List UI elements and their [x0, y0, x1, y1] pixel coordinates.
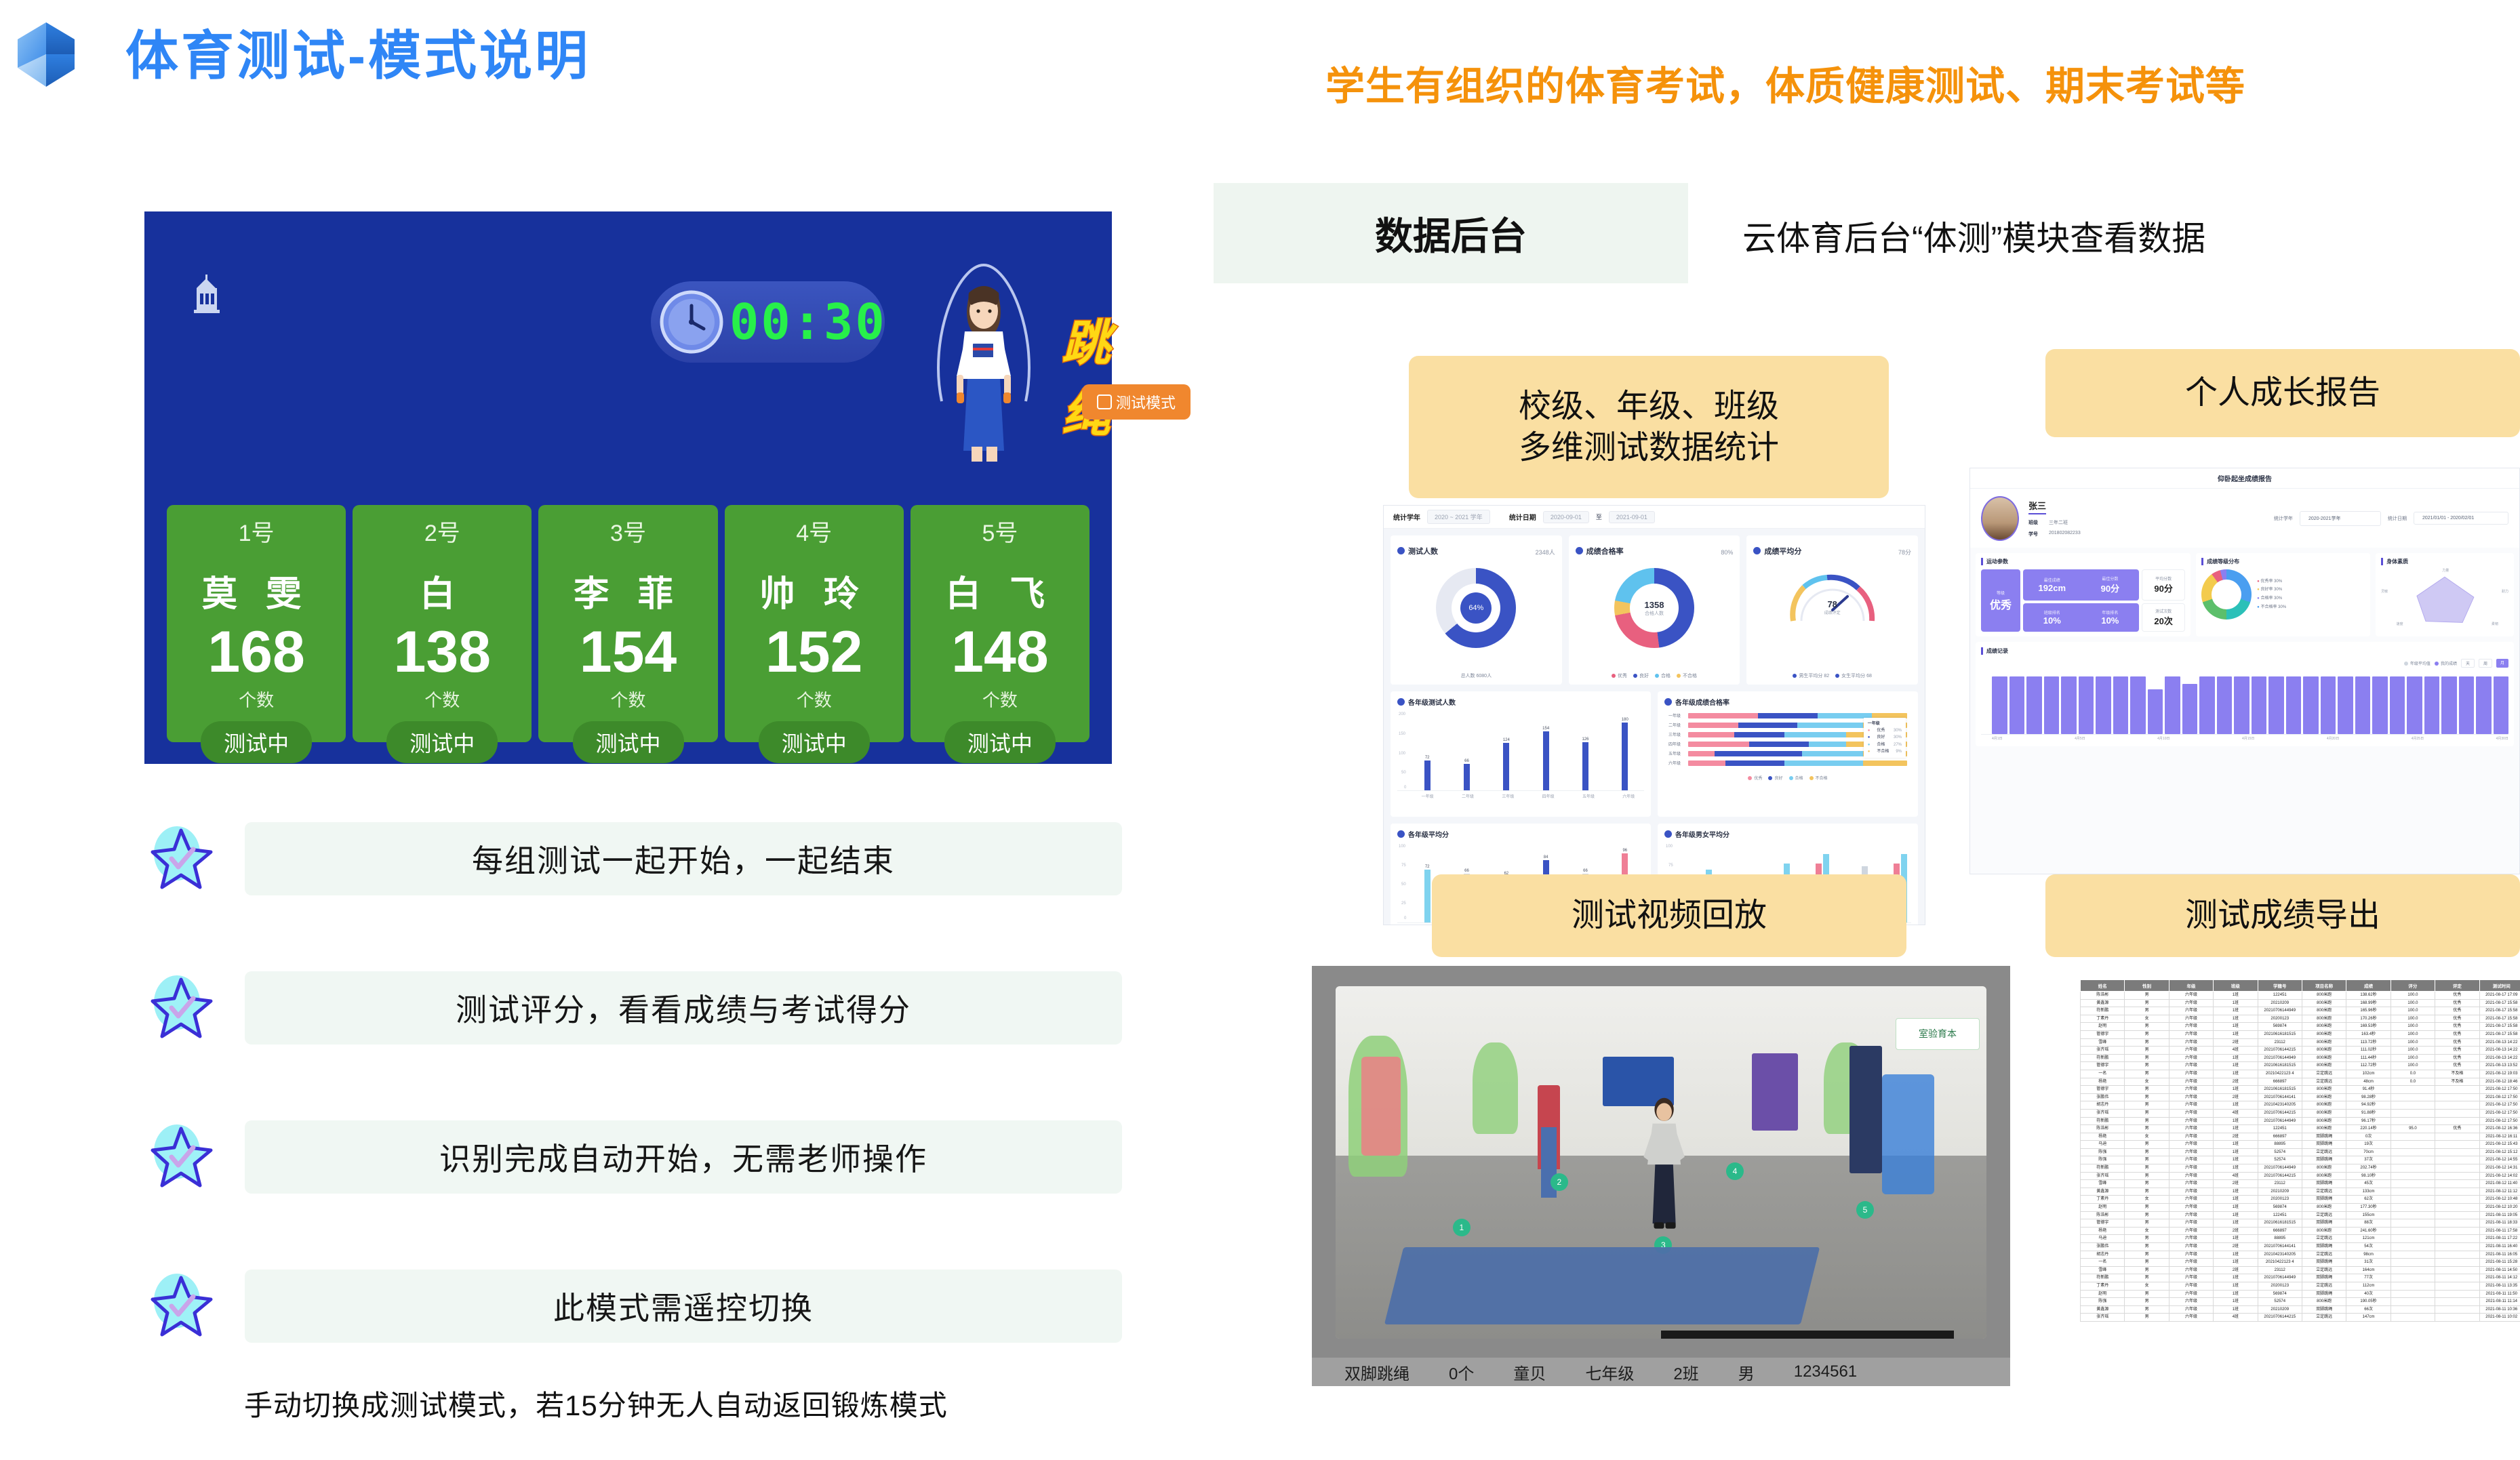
- student-card[interactable]: 5号 白 飞 148 个数 测试中: [911, 505, 1089, 742]
- legend-label: 合格: [1795, 775, 1803, 781]
- table-row[interactable]: 张齐瑶男六年级4班20210706144215800米跑111.02秒100.0…: [2081, 1047, 2520, 1055]
- export-table-screenshot: 姓名性别年级班级学籍号项目名称成绩评分评定测试时间 陈浩彬男六年级1班12245…: [2080, 979, 2520, 1386]
- table-cell: 陈强: [2081, 1148, 2125, 1156]
- table-row[interactable]: 杨艳女六年级2班666897立定跳远48cm0.0不及格2021-08-12 1…: [2081, 1078, 2520, 1086]
- table-cell: 2021-08-12 11:40: [2479, 1180, 2520, 1188]
- kpi-footer: 总人数 6080人: [1461, 672, 1492, 679]
- table-cell: 双脚跳绳: [2302, 1290, 2346, 1298]
- table-cell: 2021-08-11 15:28: [2479, 1259, 2520, 1267]
- table-row[interactable]: 陈强男六年级1班52574800米跑190.05秒2021-08-11 11:1…: [2081, 1298, 2520, 1306]
- radar-axis-label: 耐力: [2502, 589, 2508, 594]
- student-status: 测试中: [386, 721, 498, 763]
- video-frame[interactable]: 室验育本 1 2 3 4 5: [1336, 986, 1986, 1339]
- table-cell: [2435, 1117, 2479, 1125]
- table-row[interactable]: 张鹏伟男六年级2班20210706144141800米跑98.28秒2021-0…: [2081, 1093, 2520, 1101]
- table-cell: 20210706144215: [2258, 1047, 2302, 1055]
- table-cell: 2班: [2214, 1266, 2258, 1274]
- table-cell: [2391, 1314, 2435, 1322]
- table-row[interactable]: 符新鹏男六年级1班20210706144949800米跑111.44秒100.0…: [2081, 1054, 2520, 1062]
- table-row[interactable]: 胡志丹男六年级1班20210423140205800米跑94.92秒2021-0…: [2081, 1101, 2520, 1110]
- table-column-header: 姓名: [2081, 980, 2125, 992]
- table-cell: [2435, 1093, 2479, 1101]
- table-cell: 800米跑: [2302, 1015, 2346, 1023]
- table-cell: 1班: [2214, 1274, 2258, 1282]
- table-cell: 800米跑: [2302, 1125, 2346, 1133]
- feature-label: 测试评分，看看成绩与考试得分: [245, 971, 1122, 1045]
- table-cell: 52574: [2258, 1156, 2302, 1164]
- table-row[interactable]: 张齐瑶男六年级4班20210706144215立定跳远147cm2021-08-…: [2081, 1314, 2520, 1322]
- range-button-month[interactable]: 月: [2496, 659, 2508, 668]
- timer-value: 00:30: [729, 293, 887, 350]
- star-check-icon: [146, 1120, 219, 1194]
- wall-screen: [1752, 1053, 1797, 1131]
- dashboard-screenshot: 统计学年 2020 ~ 2021 学年 统计日期 2020-09-01 至 20…: [1383, 505, 1925, 925]
- table-cell: 六年级: [2169, 1266, 2213, 1274]
- table-cell: [2391, 1141, 2435, 1149]
- table-row[interactable]: 张鹏伟男六年级2班20210706144141双脚跳绳54次2021-08-11…: [2081, 1243, 2520, 1251]
- table-cell: 符新鹏: [2081, 1164, 2125, 1173]
- table-cell: 2021-08-11 19:05: [2479, 1211, 2520, 1219]
- x-tick: 4月20日: [2327, 736, 2339, 741]
- table-cell: 1班: [2214, 992, 2258, 1000]
- student-card[interactable]: 3号 李 菲 154 个数 测试中: [538, 505, 717, 742]
- table-cell: 23112: [2258, 1266, 2302, 1274]
- table-cell: 4班: [2214, 1314, 2258, 1322]
- table-row[interactable]: 陈强男六年级1班52574立定跳远70cm2021-08-12 15:12: [2081, 1148, 2520, 1156]
- table-cell: 138.62秒: [2346, 992, 2391, 1000]
- table-cell: [2435, 1259, 2479, 1267]
- gauge-label: 成绩评定: [1785, 609, 1880, 615]
- table-cell: 0次: [2346, 1133, 2391, 1141]
- range-button-day[interactable]: 天: [2461, 659, 2475, 668]
- table-cell: 男: [2125, 1259, 2169, 1267]
- bar-category: 一年级: [1412, 793, 1443, 799]
- date-to-input[interactable]: 2021-09-01: [1609, 511, 1655, 523]
- panel-title: 各年级男女平均分: [1675, 829, 1729, 839]
- tooltip-label: 合格: [1877, 742, 1885, 748]
- table-cell: 800米跑: [2302, 1093, 2346, 1101]
- table-cell: 胡志丹: [2081, 1101, 2125, 1110]
- section-title: 运动参数: [1981, 558, 2185, 565]
- table-row[interactable]: 黄鑫源男六年级1班20210209双脚跳绳66次2021-08-11 10:36: [2081, 1305, 2520, 1314]
- table-cell: 1班: [2214, 1148, 2258, 1156]
- export-table: 姓名性别年级班级学籍号项目名称成绩评分评定测试时间 陈浩彬男六年级1班12245…: [2080, 979, 2520, 1322]
- rank-tile: 班级排名10% 年级排名10%: [2023, 603, 2139, 632]
- tooltip-label: 良好: [1877, 734, 1885, 741]
- tooltip-value: 30%: [1894, 727, 1902, 734]
- kpi-card-test-count: 测试人数 2348人 64% 总人数 6080人: [1391, 535, 1562, 685]
- table-row[interactable]: 陈强男六年级1班52574双脚跳绳37次2021-08-12 14:55: [2081, 1156, 2520, 1164]
- table-cell: 2021-08-11 16:40: [2479, 1243, 2520, 1251]
- table-row[interactable]: 杨艳女六年级2班666897800米跑241.60秒2021-08-11 17:…: [2081, 1227, 2520, 1235]
- table-cell: 2021-08-12 16:36: [2479, 1125, 2520, 1133]
- table-row[interactable]: 符新鹏男六年级1班20210706144949800米跑202.74秒2021-…: [2081, 1164, 2520, 1173]
- student-name: 白: [420, 565, 464, 616]
- table-column-header: 测试时间: [2479, 980, 2520, 992]
- table-cell: 六年级: [2169, 1023, 2213, 1031]
- report-student-header: 张三 班级三年二班 学号201802082233 统计学年 2020-2021学…: [1970, 488, 2519, 548]
- donut-center-value: 1358: [1645, 600, 1664, 610]
- shield-check-icon: [1664, 698, 1672, 706]
- table-cell: 133cm: [2346, 1188, 2391, 1196]
- table-cell: 2021-08-12 17:50: [2479, 1101, 2520, 1110]
- feature-label: 此模式需遥控切换: [245, 1270, 1122, 1343]
- table-cell: 男: [2125, 1117, 2169, 1125]
- table-cell: 20210706144141: [2258, 1093, 2302, 1101]
- table-row[interactable]: 赵明男六年级1班569874双脚跳绳40次2021-08-11 11:50: [2081, 1290, 2520, 1298]
- tag-multi-level-stats: 校级、年级、班级 多维测试数据统计: [1409, 356, 1889, 498]
- table-row[interactable]: 赵明男六年级1班569874800米跑177.30秒2021-08-12 10:…: [2081, 1204, 2520, 1212]
- table-row[interactable]: 丁素丹女六年级1班20200123双脚跳绳62次2021-08-12 10:48: [2081, 1196, 2520, 1204]
- student-count: 138: [394, 623, 492, 681]
- table-cell: 2021-08-12 14:02: [2479, 1172, 2520, 1180]
- table-cell: 98.28秒: [2346, 1093, 2391, 1101]
- bar-value: 124: [1503, 738, 1510, 742]
- table-cell: 20210616181515: [2258, 1086, 2302, 1094]
- hbar-category: 三年级: [1668, 731, 1685, 737]
- table-row[interactable]: 丁素丹女六年级1班20200123立定跳远112cm2021-08-11 13:…: [2081, 1282, 2520, 1290]
- table-cell: 双脚跳绳: [2302, 1219, 2346, 1228]
- table-cell: 1班: [2214, 1290, 2258, 1298]
- table-cell: 122451: [2258, 992, 2302, 1000]
- table-cell: 男: [2125, 1054, 2169, 1062]
- table-row[interactable]: 马迪男六年级1班88895立定跳远121cm2021-08-11 17:22: [2081, 1235, 2520, 1243]
- table-cell: 六年级: [2169, 1125, 2213, 1133]
- medal-icon: [1397, 830, 1405, 838]
- table-cell: 100.0: [2391, 992, 2435, 1000]
- table-cell: 2班: [2214, 1180, 2258, 1188]
- table-cell: 六年级: [2169, 1290, 2213, 1298]
- table-cell: 六年级: [2169, 1109, 2213, 1117]
- table-cell: 31次: [2346, 1259, 2391, 1267]
- table-cell: 800米跑: [2302, 1086, 2346, 1094]
- table-cell: 黄鑫源: [2081, 999, 2125, 1007]
- table-cell: 六年级: [2169, 1133, 2213, 1141]
- legend-value: 30%: [2274, 588, 2282, 592]
- tag-line-2: 多维测试数据统计: [1519, 427, 1779, 468]
- table-cell: 2021-08-12 11:12: [2479, 1188, 2520, 1196]
- legend-label: 不合格: [1683, 672, 1697, 679]
- legend-label: 优秀: [1754, 775, 1762, 781]
- table-cell: [2435, 1235, 2479, 1243]
- table-cell: 男: [2125, 1062, 2169, 1070]
- table-row[interactable]: 雪峰男六年级2班23112双脚跳绳45次2021-08-12 11:40: [2081, 1180, 2520, 1188]
- table-cell: 男: [2125, 1235, 2169, 1243]
- caption-class: 2班: [1673, 1360, 1698, 1384]
- date-separator: 至: [1596, 512, 1602, 521]
- avg-score-label: 平均分数: [2155, 575, 2172, 582]
- table-cell: 1班: [2214, 1054, 2258, 1062]
- kpi-unit: 分: [1905, 549, 1911, 556]
- table-row[interactable]: 管德宇男六年级1班20210616181515双脚跳绳88次2021-08-11…: [2081, 1219, 2520, 1228]
- hbar-category: 二年级: [1668, 722, 1685, 728]
- table-cell: [2435, 1101, 2479, 1110]
- table-cell: 女: [2125, 1196, 2169, 1204]
- table-cell: 优秀: [2435, 1023, 2479, 1031]
- legend-label: 优秀率: [2260, 580, 2273, 584]
- table-cell: 52574: [2258, 1148, 2302, 1156]
- legend-label: 年级平均值: [2410, 660, 2431, 666]
- table-cell: 164cm: [2346, 1266, 2391, 1274]
- people-icon: [1397, 698, 1405, 706]
- table-cell: 女: [2125, 1227, 2169, 1235]
- table-cell: 569874: [2258, 1204, 2302, 1212]
- table-cell: 1班: [2214, 1235, 2258, 1243]
- table-cell: 20210706144141: [2258, 1243, 2302, 1251]
- table-cell: 六年级: [2169, 1204, 2213, 1212]
- table-row[interactable]: 张齐瑶男六年级4班20210706144215800米跑91.88秒2021-0…: [2081, 1109, 2520, 1117]
- table-cell: 165.96秒: [2346, 1007, 2391, 1015]
- table-row[interactable]: 陈浩彬男六年级1班122451立定跳远155cm2021-08-11 19:05: [2081, 1211, 2520, 1219]
- table-cell: 男: [2125, 1251, 2169, 1259]
- kpi-footer-female: 女生平均分 68: [1841, 672, 1872, 679]
- table-cell: [2391, 1251, 2435, 1259]
- table-cell: 符新鹏: [2081, 1274, 2125, 1282]
- table-cell: 20210706144949: [2258, 1164, 2302, 1173]
- table-cell: [2435, 1188, 2479, 1196]
- table-row[interactable]: 胡志丹男六年级1班20210423140205立定跳远98cm2021-08-1…: [2081, 1251, 2520, 1259]
- table-cell: 2021-08-12 15:43: [2479, 1141, 2520, 1149]
- donut-center-value: 64%: [1460, 592, 1492, 624]
- table-cell: 张鹏伟: [2081, 1093, 2125, 1101]
- student-card[interactable]: 2号 白 138 个数 测试中: [353, 505, 532, 742]
- table-cell: 男: [2125, 1204, 2169, 1212]
- table-cell: 六年级: [2169, 1164, 2213, 1173]
- date-from-input[interactable]: 2020-09-01: [1543, 511, 1589, 523]
- grade-tile: 等级 优秀: [1981, 569, 2020, 632]
- table-cell: 女: [2125, 1282, 2169, 1290]
- table-row[interactable]: 管德宇男六年级1班20210616181515800米跑112.72秒100.0…: [2081, 1062, 2520, 1070]
- table-cell: 102cm: [2346, 1070, 2391, 1078]
- table-cell: 双脚跳绳: [2302, 1196, 2346, 1204]
- donut-chart: 64%: [1436, 568, 1516, 648]
- student-name: 李 菲: [574, 565, 682, 616]
- table-cell: 丁素丹: [2081, 1282, 2125, 1290]
- gauge-value: 78: [1827, 599, 1837, 609]
- table-column-header: 性别: [2125, 980, 2169, 992]
- table-cell: 2021-08-12 14:31: [2479, 1164, 2520, 1173]
- table-cell: 六年级: [2169, 1259, 2213, 1267]
- x-tick: 4月30日: [2496, 736, 2508, 741]
- table-cell: 23112: [2258, 1180, 2302, 1188]
- table-row[interactable]: 管德宇男六年级1班20210616181515800米跑91.4秒2021-08…: [2081, 1086, 2520, 1094]
- year-filter-select[interactable]: 2020 ~ 2021 学年: [1427, 510, 1490, 524]
- section-title: 身体素质: [2381, 558, 2508, 565]
- table-cell: 胡志丹: [2081, 1251, 2125, 1259]
- table-row[interactable]: 陈浩彬男六年级1班122451800米跑138.62秒100.0优秀2021-0…: [2081, 992, 2520, 1000]
- table-cell: 1班: [2214, 1305, 2258, 1314]
- table-cell: 六年级: [2169, 1148, 2213, 1156]
- student-count: 168: [207, 623, 305, 681]
- table-cell: 800米跑: [2302, 1062, 2346, 1070]
- video-progress-bar[interactable]: [1661, 1331, 1954, 1339]
- table-cell: 1班: [2214, 1298, 2258, 1306]
- student-count: 154: [580, 623, 677, 681]
- table-row[interactable]: 马迪男六年级1班88895双脚跳绳19次2021-08-12 15:43: [2081, 1141, 2520, 1149]
- table-cell: 20210422123 4: [2258, 1259, 2302, 1267]
- table-cell: 190.05秒: [2346, 1298, 2391, 1306]
- table-cell: 杨艳: [2081, 1133, 2125, 1141]
- table-row[interactable]: 符新鹏男六年级1班20210706144949800米跑96.17秒2021-0…: [2081, 1117, 2520, 1125]
- table-cell: 张齐瑶: [2081, 1109, 2125, 1117]
- table-row[interactable]: 赵明男六年级1班569874800米跑169.53秒100.0优秀2021-08…: [2081, 1023, 2520, 1031]
- table-cell: 1班: [2214, 1251, 2258, 1259]
- caption-gender: 男: [1738, 1360, 1755, 1384]
- table-cell: 1班: [2214, 1164, 2258, 1173]
- student-status: 测试中: [944, 721, 1056, 763]
- table-cell: 优秀: [2435, 992, 2479, 1000]
- feature-label: 每组测试一起开始，一起结束: [245, 822, 1122, 895]
- tag-growth-report: 个人成长报告: [2045, 349, 2520, 437]
- count-unit: 个数: [239, 687, 274, 712]
- hbar-category: 四年级: [1668, 741, 1685, 747]
- table-cell: 男: [2125, 1125, 2169, 1133]
- table-cell: 1班: [2214, 1204, 2258, 1212]
- table-cell: 20200123: [2258, 1196, 2302, 1204]
- table-cell: [2435, 1282, 2479, 1290]
- grade-value: 优秀: [1990, 596, 2012, 612]
- table-cell: 2021-08-13 14:22: [2479, 1054, 2520, 1062]
- table-cell: 优秀: [2435, 1062, 2479, 1070]
- table-row[interactable]: 管德宇男六年级1班20210616181515800米跑163.4秒100.0优…: [2081, 1030, 2520, 1038]
- table-cell: 91.88秒: [2346, 1109, 2391, 1117]
- table-row[interactable]: 一名男六年级1班20210422123 4立定跳远102cm0.0不及格2021…: [2081, 1070, 2520, 1078]
- table-column-header: 评分: [2391, 980, 2435, 992]
- table-row[interactable]: 符新鹏男六年级1班20210706144949800米跑165.96秒100.0…: [2081, 1007, 2520, 1015]
- range-button-week[interactable]: 周: [2479, 659, 2492, 668]
- table-cell: 六年级: [2169, 1078, 2213, 1086]
- table-row[interactable]: 丁素丹女六年级1班20200123800米跑170.26秒100.0优秀2021…: [2081, 1015, 2520, 1023]
- table-cell: [2391, 1204, 2435, 1212]
- table-cell: [2391, 1188, 2435, 1196]
- report-date-select[interactable]: 2021/01/01 - 2020/02/01: [2414, 512, 2508, 525]
- table-cell: [2391, 1101, 2435, 1110]
- feature-item: 每组测试一起开始，一起结束: [146, 822, 1122, 895]
- tooltip-value: 30%: [1894, 734, 1902, 741]
- table-cell: [2435, 1290, 2479, 1298]
- best-score-value: 90分: [2101, 582, 2119, 594]
- floor-marker: 2: [1551, 1173, 1568, 1191]
- caption-grade: 七年级: [1585, 1360, 1634, 1384]
- table-cell: 六年级: [2169, 1062, 2213, 1070]
- table-row[interactable]: 雪峰男六年级2班23112立定跳远164cm2021-08-11 14:50: [2081, 1266, 2520, 1274]
- growth-report-screenshot: 仰卧起坐成绩报告 张三 班级三年二班 学号201802082233 统计学年 2…: [1969, 468, 2520, 874]
- table-cell: 20210706144949: [2258, 1117, 2302, 1125]
- table-cell: 男: [2125, 1148, 2169, 1156]
- test-count-tile: 测试次数20次: [2142, 603, 2185, 632]
- table-row[interactable]: 符新鹏男六年级1班20210706144949双脚跳绳77次2021-08-11…: [2081, 1274, 2520, 1282]
- table-cell: 241.60秒: [2346, 1227, 2391, 1235]
- table-cell: 100.0: [2391, 1007, 2435, 1015]
- table-cell: 双脚跳绳: [2302, 1259, 2346, 1267]
- bar-value: 154: [1542, 727, 1549, 731]
- panel-title: 各年级测试人数: [1408, 697, 1456, 707]
- tag-line-1: 校级、年级、班级: [1519, 386, 1779, 427]
- student-card[interactable]: 4号 帅 玲 152 个数 测试中: [725, 505, 904, 742]
- table-cell: 优秀: [2435, 1015, 2479, 1023]
- table-cell: [2435, 1298, 2479, 1306]
- table-cell: 20210706144949: [2258, 1007, 2302, 1015]
- table-row[interactable]: 张齐瑶男六年级4班20210706144215800米跑98.10秒2021-0…: [2081, 1172, 2520, 1180]
- radar-axis-label: 力量: [2442, 568, 2449, 573]
- table-row[interactable]: 黄鑫源男六年级1班20210209800米跑168.99秒100.0优秀2021…: [2081, 999, 2520, 1007]
- table-cell: 2021-08-11 10:36: [2479, 1305, 2520, 1314]
- student-name: 帅 玲: [759, 565, 868, 616]
- table-cell: 45次: [2346, 1180, 2391, 1188]
- table-cell: 2021-08-12 17:50: [2479, 1117, 2520, 1125]
- report-year-select[interactable]: 2020-2021学年: [2300, 511, 2381, 526]
- table-cell: 800米跑: [2302, 1117, 2346, 1125]
- table-cell: 2班: [2214, 1078, 2258, 1086]
- table-cell: 2021-08-11 17:22: [2479, 1235, 2520, 1243]
- table-cell: 雪峰: [2081, 1038, 2125, 1047]
- table-cell: 48cm: [2346, 1078, 2391, 1086]
- table-column-header: 项目名称: [2302, 980, 2346, 992]
- table-cell: 800米跑: [2302, 1047, 2346, 1055]
- kpi-unit: %: [1727, 549, 1733, 556]
- table-cell: 40次: [2346, 1290, 2391, 1298]
- table-cell: 37次: [2346, 1156, 2391, 1164]
- dashboard-panels-row-1: 各年级测试人数 200 150 100 50 0 72 66 124 154 1…: [1384, 691, 1925, 824]
- grade-rank-value: 10%: [2101, 615, 2119, 626]
- table-cell: 100.0: [2391, 1038, 2435, 1047]
- table-cell: 20200123: [2258, 1282, 2302, 1290]
- table-cell: 2021-08-11 11:50: [2479, 1290, 2520, 1298]
- radar-axis-label: 柔韧: [2492, 622, 2498, 626]
- table-row[interactable]: 黄鑫源男六年级1班20210209立定跳远133cm2021-08-12 11:…: [2081, 1188, 2520, 1196]
- table-cell: 1班: [2214, 1188, 2258, 1196]
- table-cell: 符新鹏: [2081, 1007, 2125, 1015]
- bar-value: 180: [1622, 718, 1628, 722]
- legend-label: 合格率: [2260, 596, 2273, 601]
- table-cell: [2391, 1227, 2435, 1235]
- table-row[interactable]: 雪峰男六年级2班23112800米跑113.72秒100.0优秀2021-08-…: [2081, 1038, 2520, 1047]
- table-cell: 96.17秒: [2346, 1117, 2391, 1125]
- student-card[interactable]: 1号 莫 雯 168 个数 测试中: [167, 505, 346, 742]
- table-cell: 52574: [2258, 1298, 2302, 1306]
- table-cell: 20210616181515: [2258, 1062, 2302, 1070]
- table-cell: 六年级: [2169, 1007, 2213, 1015]
- table-cell: [2391, 1266, 2435, 1274]
- table-cell: 800米跑: [2302, 1023, 2346, 1031]
- table-row[interactable]: 陈浩彬男六年级1班122451800米跑220.14秒95.0优秀2021-08…: [2081, 1125, 2520, 1133]
- table-cell: 70cm: [2346, 1148, 2391, 1156]
- table-cell: 男: [2125, 1164, 2169, 1173]
- records-bar-chart: [1981, 670, 2508, 735]
- table-row[interactable]: 杨艳女六年级2班666897双脚跳绳0次2021-08-12 16:11: [2081, 1133, 2520, 1141]
- table-cell: 优秀: [2435, 1038, 2479, 1047]
- table-cell: 569874: [2258, 1290, 2302, 1298]
- table-row[interactable]: 一名男六年级1班20210422123 4双脚跳绳31次2021-08-11 1…: [2081, 1259, 2520, 1267]
- video-playback-screenshot[interactable]: 室验育本 1 2 3 4 5 双脚跳绳 0个 童贝 七年级 2班: [1312, 966, 2010, 1386]
- table-cell: 男: [2125, 1274, 2169, 1282]
- table-cell: 2021-08-17 17:09: [2479, 992, 2520, 1000]
- table-cell: 管德宇: [2081, 1030, 2125, 1038]
- table-cell: [2435, 1156, 2479, 1164]
- dashboard-filter-bar: 统计学年 2020 ~ 2021 学年 统计日期 2020-09-01 至 20…: [1384, 506, 1925, 529]
- table-cell: 1班: [2214, 1196, 2258, 1204]
- legend-label: 良好率: [2260, 588, 2273, 592]
- medal-icon: [1664, 830, 1672, 838]
- caption-name: 童贝: [1513, 1360, 1546, 1384]
- table-cell: 男: [2125, 1290, 2169, 1298]
- table-cell: [2391, 1298, 2435, 1306]
- table-cell: 不及格: [2435, 1070, 2479, 1078]
- student-name: 张三: [2028, 499, 2046, 514]
- table-cell: [2391, 1133, 2435, 1141]
- table-cell: 666897: [2258, 1078, 2302, 1086]
- table-cell: 男: [2125, 1211, 2169, 1219]
